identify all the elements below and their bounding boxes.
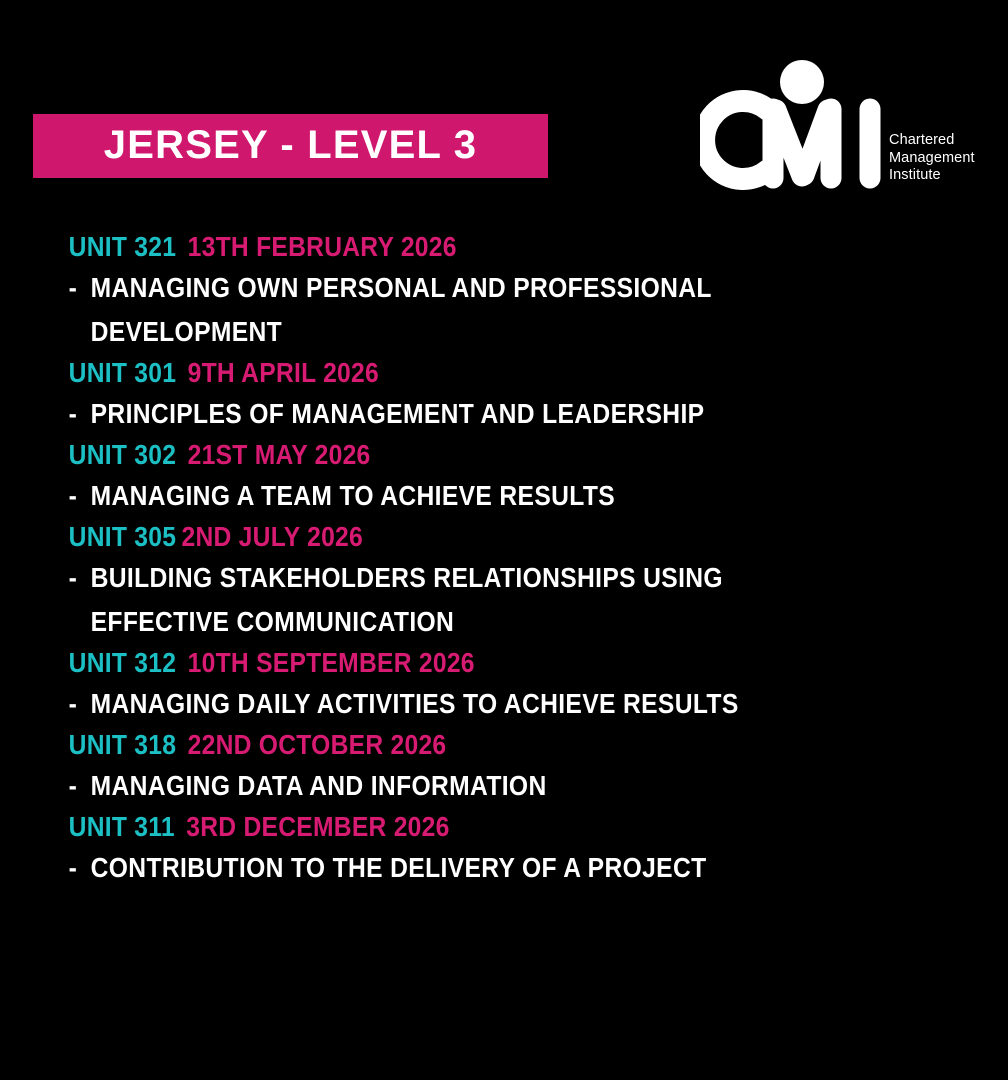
unit-date: 3RD DECEMBER 2026 xyxy=(186,811,449,842)
bullet-dash: - xyxy=(69,682,91,726)
schedule-entry: UNIT 31210TH SEPTEMBER 2026 -MANAGING DA… xyxy=(0,644,1008,726)
schedule-list: UNIT 32113TH FEBRUARY 2026 -MANAGING OWN… xyxy=(0,228,1008,890)
entry-header: UNIT 3019TH APRIL 2026 xyxy=(0,354,887,392)
bullet-dash: - xyxy=(69,474,91,518)
bullet-dash: - xyxy=(69,556,91,600)
entry-header: UNIT 31210TH SEPTEMBER 2026 xyxy=(0,644,887,682)
entry-header: UNIT 3052ND JULY 2026 xyxy=(0,518,887,556)
entry-title-line-1: BUILDING STAKEHOLDERS RELATIONSHIPS USIN… xyxy=(91,562,723,593)
logo-line-management: Management xyxy=(889,150,975,166)
schedule-entry: UNIT 31822ND OCTOBER 2026 -MANAGING DATA… xyxy=(0,726,1008,808)
entry-header: UNIT 31822ND OCTOBER 2026 xyxy=(0,726,887,764)
unit-date: 22ND OCTOBER 2026 xyxy=(188,729,447,760)
entry-title-line-1: PRINCIPLES OF MANAGEMENT AND LEADERSHIP xyxy=(91,398,705,429)
unit-code: UNIT 311 xyxy=(69,811,175,842)
entry-title: -BUILDING STAKEHOLDERS RELATIONSHIPS USI… xyxy=(0,556,887,644)
title-banner: JERSEY - LEVEL 3 xyxy=(33,114,548,178)
entry-title: -MANAGING DATA AND INFORMATION xyxy=(0,764,887,808)
bullet-dash: - xyxy=(69,764,91,808)
entry-title-line-1: CONTRIBUTION TO THE DELIVERY OF A PROJEC… xyxy=(91,852,707,883)
entry-title: -CONTRIBUTION TO THE DELIVERY OF A PROJE… xyxy=(0,846,887,890)
schedule-entry: UNIT 3113RD DECEMBER 2026 -CONTRIBUTION … xyxy=(0,808,1008,890)
cmi-logo: Chartered Management Institute xyxy=(700,58,990,190)
poster-root: JERSEY - LEVEL 3 Chartered xyxy=(0,0,1008,1080)
schedule-entry: UNIT 30221ST MAY 2026 -MANAGING A TEAM T… xyxy=(0,436,1008,518)
entry-header: UNIT 3113RD DECEMBER 2026 xyxy=(0,808,887,846)
entry-title-line-1: MANAGING A TEAM TO ACHIEVE RESULTS xyxy=(91,480,615,511)
unit-code: UNIT 321 xyxy=(69,231,177,262)
logo-line-institute: Institute xyxy=(889,167,941,183)
bullet-dash: - xyxy=(69,846,91,890)
schedule-entry: UNIT 32113TH FEBRUARY 2026 -MANAGING OWN… xyxy=(0,228,1008,354)
unit-date: 13TH FEBRUARY 2026 xyxy=(188,231,457,262)
schedule-entry: UNIT 3052ND JULY 2026 -BUILDING STAKEHOL… xyxy=(0,518,1008,644)
schedule-entry: UNIT 3019TH APRIL 2026 -PRINCIPLES OF MA… xyxy=(0,354,1008,436)
page-title: JERSEY - LEVEL 3 xyxy=(104,125,477,165)
cmi-logo-wordmark: Chartered Management Institute xyxy=(889,132,975,185)
entry-title: -MANAGING OWN PERSONAL AND PROFESSIONAL … xyxy=(0,266,887,354)
cmi-logomark-icon xyxy=(700,58,890,190)
entry-title-line-1: MANAGING DATA AND INFORMATION xyxy=(91,770,547,801)
entry-title: -PRINCIPLES OF MANAGEMENT AND LEADERSHIP xyxy=(0,392,887,436)
entry-header: UNIT 32113TH FEBRUARY 2026 xyxy=(0,228,887,266)
entry-title: -MANAGING DAILY ACTIVITIES TO ACHIEVE RE… xyxy=(0,682,887,726)
unit-code: UNIT 318 xyxy=(69,729,177,760)
unit-date: 9TH APRIL 2026 xyxy=(188,357,379,388)
unit-date: 2ND JULY 2026 xyxy=(181,521,363,552)
unit-code: UNIT 305 xyxy=(69,521,177,552)
bullet-dash: - xyxy=(69,266,91,310)
entry-title-line-2: DEVELOPMENT xyxy=(69,310,887,354)
unit-code: UNIT 301 xyxy=(69,357,177,388)
entry-title-line-1: MANAGING DAILY ACTIVITIES TO ACHIEVE RES… xyxy=(91,688,739,719)
unit-date: 10TH SEPTEMBER 2026 xyxy=(188,647,475,678)
logo-line-chartered: Chartered xyxy=(889,132,954,148)
entry-title-line-2: EFFECTIVE COMMUNICATION xyxy=(69,600,887,644)
entry-title-line-1: MANAGING OWN PERSONAL AND PROFESSIONAL xyxy=(91,272,712,303)
entry-header: UNIT 30221ST MAY 2026 xyxy=(0,436,887,474)
unit-date: 21ST MAY 2026 xyxy=(188,439,371,470)
unit-code: UNIT 302 xyxy=(69,439,177,470)
bullet-dash: - xyxy=(69,392,91,436)
unit-code: UNIT 312 xyxy=(69,647,177,678)
entry-title: -MANAGING A TEAM TO ACHIEVE RESULTS xyxy=(0,474,887,518)
